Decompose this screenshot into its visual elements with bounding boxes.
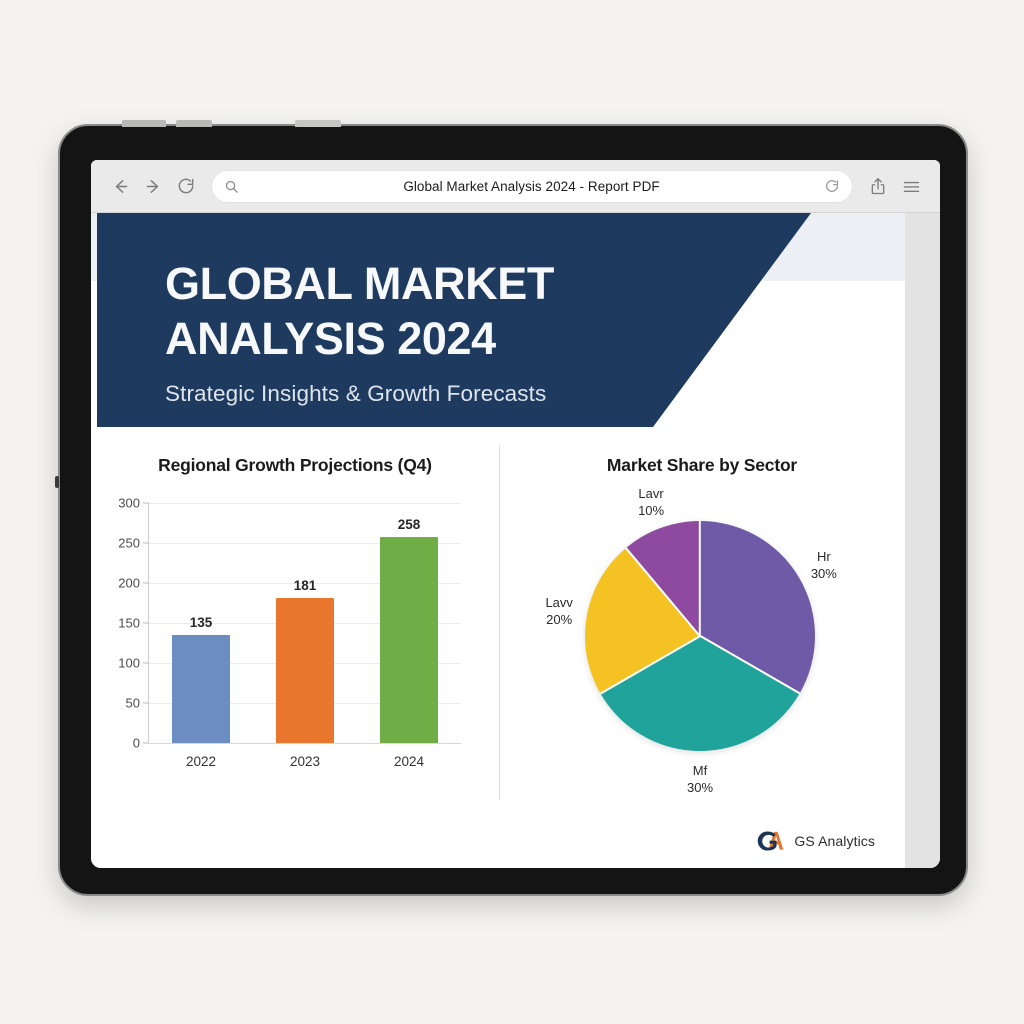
bar-chart-bar-group: 1352022 (172, 615, 230, 743)
pie-chart-slice-label-line: 10% (638, 502, 664, 519)
bar-chart-y-tick-label: 300 (118, 496, 140, 511)
pie-chart-slice-label-line: 30% (687, 779, 713, 796)
bar-chart-bar-group: 2582024 (380, 517, 438, 743)
bar-chart-y-tick-label: 0 (133, 736, 140, 751)
reload-icon (176, 176, 196, 196)
report-subtitle: Strategic Insights & Growth Forecasts (165, 381, 811, 407)
tablet-screen: Global Market Analysis 2024 - Report PDF (91, 160, 940, 868)
pie-chart-slice-label: Hr30% (811, 548, 837, 582)
pie-chart-slice-separator (699, 521, 701, 636)
power-button[interactable] (295, 120, 341, 127)
bar-chart-y-tick-mark (143, 663, 149, 664)
arrow-right-icon (143, 176, 164, 197)
report-banner: GLOBAL MARKET ANALYSIS 2024 Strategic In… (97, 213, 811, 427)
bar-chart-gridline (149, 743, 461, 744)
forward-button[interactable] (138, 171, 168, 201)
bar-chart-title: Regional Growth Projections (Q4) (91, 427, 499, 476)
bar-chart-x-tick-label: 2023 (276, 754, 334, 769)
pie-chart-slice-label-line: Lavr (638, 485, 664, 502)
pdf-page: GLOBAL MARKET ANALYSIS 2024 Strategic In… (91, 213, 905, 868)
browser-toolbar: Global Market Analysis 2024 - Report PDF (91, 160, 940, 213)
company-logo-text: GS Analytics (794, 833, 875, 849)
pie-chart-slice-label-line: Mf (687, 762, 713, 779)
bar-chart-x-tick-label: 2022 (172, 754, 230, 769)
bar-chart-y-tick-mark (143, 623, 149, 624)
bar-chart-y-tick-label: 150 (118, 616, 140, 631)
bar-chart-bar[interactable] (380, 537, 438, 743)
address-bar-text[interactable]: Global Market Analysis 2024 - Report PDF (239, 179, 824, 194)
side-sensor (55, 476, 59, 488)
bar-chart-bar[interactable] (172, 635, 230, 743)
back-button[interactable] (105, 171, 135, 201)
bar-chart-gridline (149, 503, 461, 504)
bar-chart-y-tick-mark (143, 583, 149, 584)
bar-chart-y-tick-mark (143, 743, 149, 744)
share-icon (868, 176, 888, 196)
pie-chart-slice-label-line: Hr (811, 548, 837, 565)
bar-chart-value-label: 258 (398, 517, 421, 532)
bar-chart-y-tick-label: 200 (118, 576, 140, 591)
bar-chart-y-tick-mark (143, 543, 149, 544)
volume-up-button[interactable] (122, 120, 166, 127)
bar-chart-y-tick-mark (143, 703, 149, 704)
pie-chart-slice-label: Lavr10% (638, 485, 664, 519)
share-button[interactable] (863, 171, 893, 201)
bar-chart-bar[interactable] (276, 598, 334, 743)
company-logo: GS Analytics (757, 828, 875, 854)
bar-chart-value-label: 181 (294, 578, 317, 593)
pie-chart-slice-label: Mf30% (687, 762, 713, 796)
bar-chart-y-tick-label: 50 (126, 696, 140, 711)
tablet-device: Global Market Analysis 2024 - Report PDF (58, 124, 968, 896)
report-title: GLOBAL MARKET ANALYSIS 2024 (165, 256, 811, 366)
pdf-viewport[interactable]: GLOBAL MARKET ANALYSIS 2024 Strategic In… (91, 213, 940, 868)
bar-chart-bar-group: 1812023 (276, 578, 334, 743)
menu-button[interactable] (896, 171, 926, 201)
volume-down-button[interactable] (176, 120, 212, 127)
arrow-left-icon (110, 176, 131, 197)
charts-region: Regional Growth Projections (Q4) 0501001… (91, 427, 905, 827)
pie-chart-slice-label-line: Lavv (545, 594, 572, 611)
bar-chart-plot-area: 050100150200250300 135202218120232582024 (149, 503, 461, 743)
bar-chart-x-tick-label: 2024 (380, 754, 438, 769)
bar-chart: Regional Growth Projections (Q4) 0501001… (91, 427, 499, 827)
bar-chart-y-tick-label: 100 (118, 656, 140, 671)
bar-chart-y-tick-label: 250 (118, 536, 140, 551)
ga-monogram-logo (757, 828, 787, 854)
pie-chart-title: Market Share by Sector (499, 427, 905, 476)
pdf-page-gutter (905, 213, 940, 868)
hamburger-menu-icon (901, 176, 922, 197)
report-banner-region: GLOBAL MARKET ANALYSIS 2024 Strategic In… (91, 213, 905, 427)
address-bar[interactable]: Global Market Analysis 2024 - Report PDF (212, 171, 852, 202)
pie-chart-slice-label-line: 20% (545, 611, 572, 628)
bar-chart-y-tick-mark (143, 503, 149, 504)
search-icon (224, 179, 239, 194)
pie-chart-plot-area (585, 521, 815, 751)
pie-chart-slice-label: Lavv20% (545, 594, 572, 628)
reload-button[interactable] (171, 171, 201, 201)
pie-chart: Market Share by Sector Hr30%Mf30%Lavv20%… (499, 427, 905, 827)
bar-chart-value-label: 135 (190, 615, 213, 630)
pie-chart-slice-label-line: 30% (811, 565, 837, 582)
reload-icon[interactable] (824, 178, 840, 194)
